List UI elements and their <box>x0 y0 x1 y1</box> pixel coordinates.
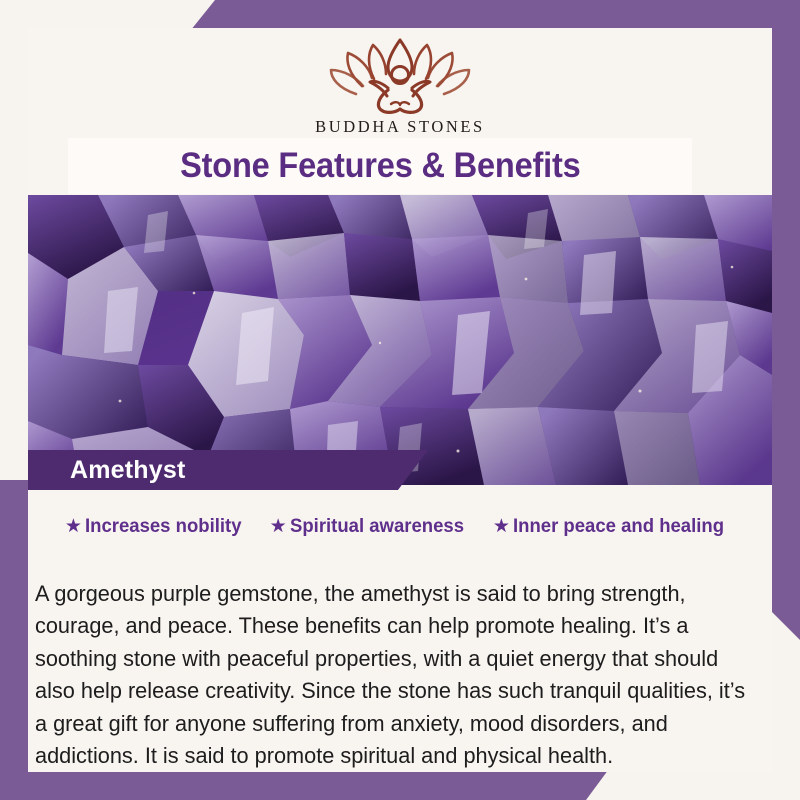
feature-label: Inner peace and healing <box>513 515 724 538</box>
stone-photo <box>28 195 772 485</box>
feature-item: ★ Spiritual awareness <box>270 515 473 538</box>
brand-name: BUDDHA STONES <box>315 117 485 137</box>
page-title: Stone Features & Benefits <box>180 146 581 186</box>
feature-item: ★ Increases nobility <box>65 515 250 538</box>
star-icon: ★ <box>493 517 510 536</box>
poster-card: BUDDHA STONES Stone Features & Benefits <box>28 28 772 772</box>
lotus-meditation-icon <box>325 34 475 116</box>
stone-name: Amethyst <box>70 456 186 485</box>
feature-list: ★ Increases nobility ★ Spiritual awarene… <box>28 515 772 538</box>
feature-label: Spiritual awareness <box>290 515 464 538</box>
stone-name-banner: Amethyst <box>28 450 428 490</box>
amethyst-crystal-cluster-photo <box>28 195 772 485</box>
feature-item: ★ Inner peace and healing <box>493 515 735 538</box>
stone-description: A gorgeous purple gemstone, the amethyst… <box>35 578 749 773</box>
feature-label: Increases nobility <box>85 515 241 538</box>
star-icon: ★ <box>65 517 82 536</box>
title-band: Stone Features & Benefits <box>68 138 692 194</box>
brand-header: BUDDHA STONES <box>28 28 772 148</box>
stone-info-poster: BUDDHA STONES Stone Features & Benefits <box>0 0 800 800</box>
star-icon: ★ <box>270 517 287 536</box>
